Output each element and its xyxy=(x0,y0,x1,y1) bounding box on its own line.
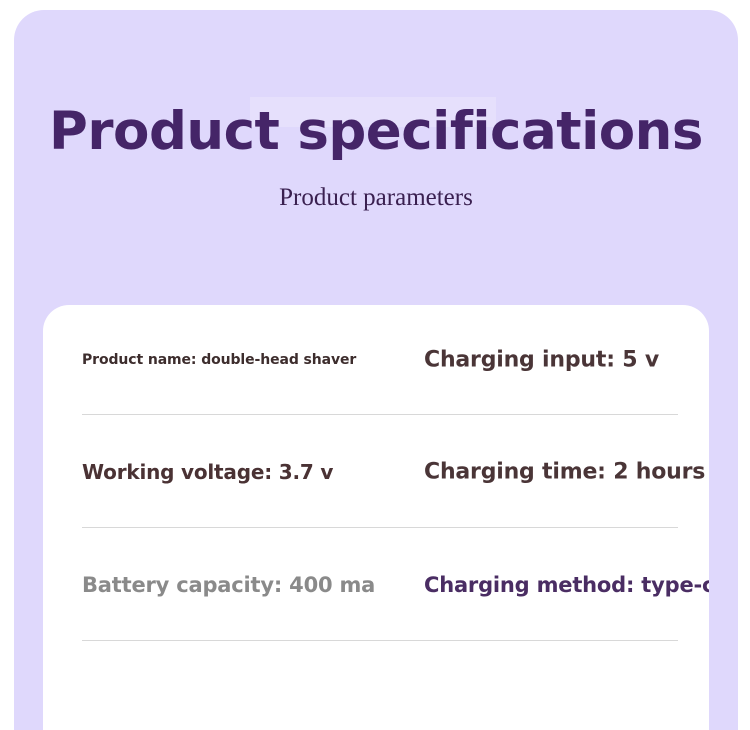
spec-label-charging-method: Charging method: type-c xyxy=(424,573,709,597)
spec-label-charging-input: Charging input: 5 v xyxy=(424,348,659,373)
spec-label-working-voltage: Working voltage: 3.7 v xyxy=(82,460,333,484)
product-spec-panel: Product specifications Product parameter… xyxy=(14,10,738,730)
spec-row: Battery capacity: 400 ma Charging method… xyxy=(43,528,709,641)
spec-card: Product name: double-head shaver Chargin… xyxy=(43,305,709,730)
page-title: Product specifications xyxy=(14,10,738,158)
spec-label-product-name: Product name: double-head shaver xyxy=(82,352,356,368)
spec-row: Working voltage: 3.7 v Charging time: 2 … xyxy=(43,415,709,528)
page-subtitle: Product parameters xyxy=(14,158,738,210)
spec-label-battery-capacity: Battery capacity: 400 ma xyxy=(82,573,375,597)
page-header: Product specifications Product parameter… xyxy=(14,10,738,210)
row-divider xyxy=(82,640,678,641)
spec-label-charging-time: Charging time: 2 hours xyxy=(424,459,705,484)
spec-row: Product name: double-head shaver Chargin… xyxy=(43,305,709,415)
